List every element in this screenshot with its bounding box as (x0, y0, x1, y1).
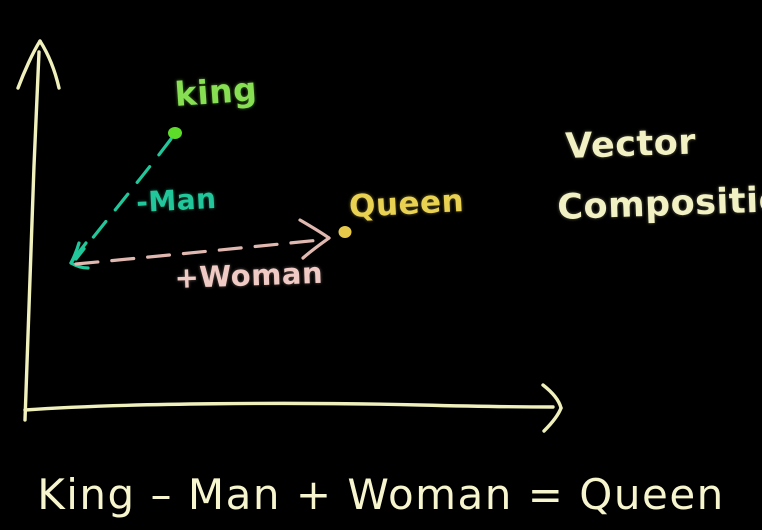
point-king[interactable] (168, 127, 182, 139)
y-axis-arrow (18, 41, 59, 420)
vector-label-minus-man: -Man (136, 185, 218, 217)
whiteboard-canvas: king Queen -Man +Woman Vector Compositio… (0, 0, 762, 530)
diagram-svg (0, 0, 762, 530)
caption-equation: King – Man + Woman = Queen (0, 470, 762, 519)
title-line-2: Composition (557, 182, 762, 226)
x-axis-arrow (25, 385, 561, 431)
point-label-queen: Queen (348, 186, 465, 223)
title-line-1: Vector (565, 125, 697, 165)
point-label-king: king (174, 72, 258, 111)
point-queen[interactable] (339, 226, 352, 238)
vector-label-plus-woman: +Woman (174, 259, 324, 293)
